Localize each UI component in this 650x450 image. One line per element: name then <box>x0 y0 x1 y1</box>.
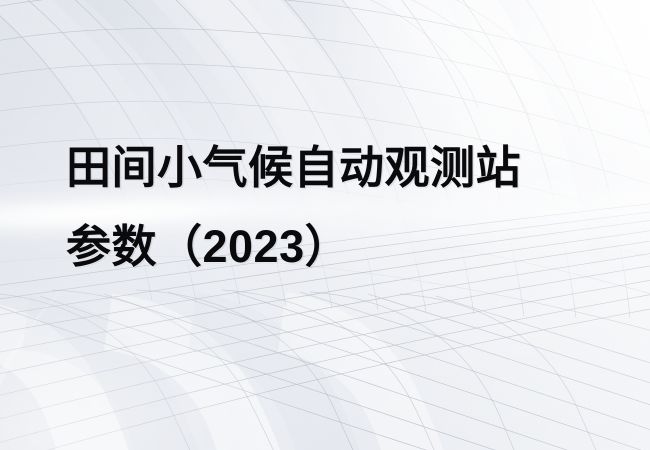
title-line-1: 田间小气候自动观测站 <box>66 128 586 207</box>
title-line-2: 参数（2023） <box>66 207 586 286</box>
page-title: 田间小气候自动观测站 参数（2023） <box>66 128 586 286</box>
title-banner: 田间小气候自动观测站 参数（2023） <box>0 0 650 450</box>
